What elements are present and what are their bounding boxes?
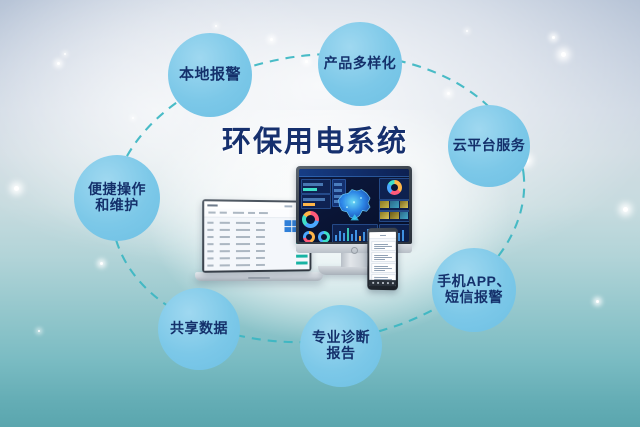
node-label-line1: 手机APP、 bbox=[437, 274, 511, 290]
china-map-visualization bbox=[333, 185, 375, 225]
node-product-diversification[interactable]: 产品多样化 bbox=[318, 22, 402, 106]
phone-list-item bbox=[371, 252, 396, 262]
node-label-line2: 和维护 bbox=[88, 198, 146, 214]
phone-list-item bbox=[371, 263, 396, 273]
smartphone bbox=[367, 228, 398, 291]
phone-bottom-nav[interactable] bbox=[369, 280, 396, 286]
laptop-trackpad bbox=[248, 277, 270, 279]
node-label-line2: 报告 bbox=[312, 346, 370, 362]
node-convenient-operation-maintenance[interactable]: 便捷操作 和维护 bbox=[74, 155, 160, 241]
node-label: 共享数据 bbox=[170, 321, 228, 337]
node-cloud-platform-service[interactable]: 云平台服务 bbox=[448, 105, 530, 187]
laptop-lid bbox=[202, 199, 311, 273]
node-label: 本地报警 bbox=[179, 67, 241, 84]
node-label-line2: 短信报警 bbox=[437, 290, 511, 306]
monitor-logo-icon bbox=[351, 247, 358, 254]
poster-canvas: 环保用电系统 本地报警 产品多样化 云平台服务 手机APP、 短信报警 专业诊断… bbox=[0, 0, 640, 427]
node-professional-diagnosis-report[interactable]: 专业诊断 报告 bbox=[300, 305, 382, 387]
node-shared-data[interactable]: 共享数据 bbox=[158, 288, 240, 370]
node-label-line1: 便捷操作 bbox=[88, 182, 146, 198]
node-label: 云平台服务 bbox=[453, 138, 526, 154]
node-label: 产品多样化 bbox=[324, 56, 397, 72]
node-local-alarm[interactable]: 本地报警 bbox=[168, 33, 252, 117]
laptop-screen bbox=[204, 201, 309, 270]
monitor-neck bbox=[341, 253, 367, 267]
phone-list-item bbox=[371, 241, 396, 251]
node-label-line1: 专业诊断 bbox=[312, 330, 370, 346]
node-mobile-app-sms-alarm[interactable]: 手机APP、 短信报警 bbox=[432, 248, 516, 332]
dashboard-header bbox=[299, 169, 409, 177]
phone-screen bbox=[369, 232, 396, 286]
page-title: 环保用电系统 bbox=[222, 118, 408, 160]
phone-app-header bbox=[369, 232, 396, 239]
laptop-app-toolbar bbox=[204, 208, 309, 218]
